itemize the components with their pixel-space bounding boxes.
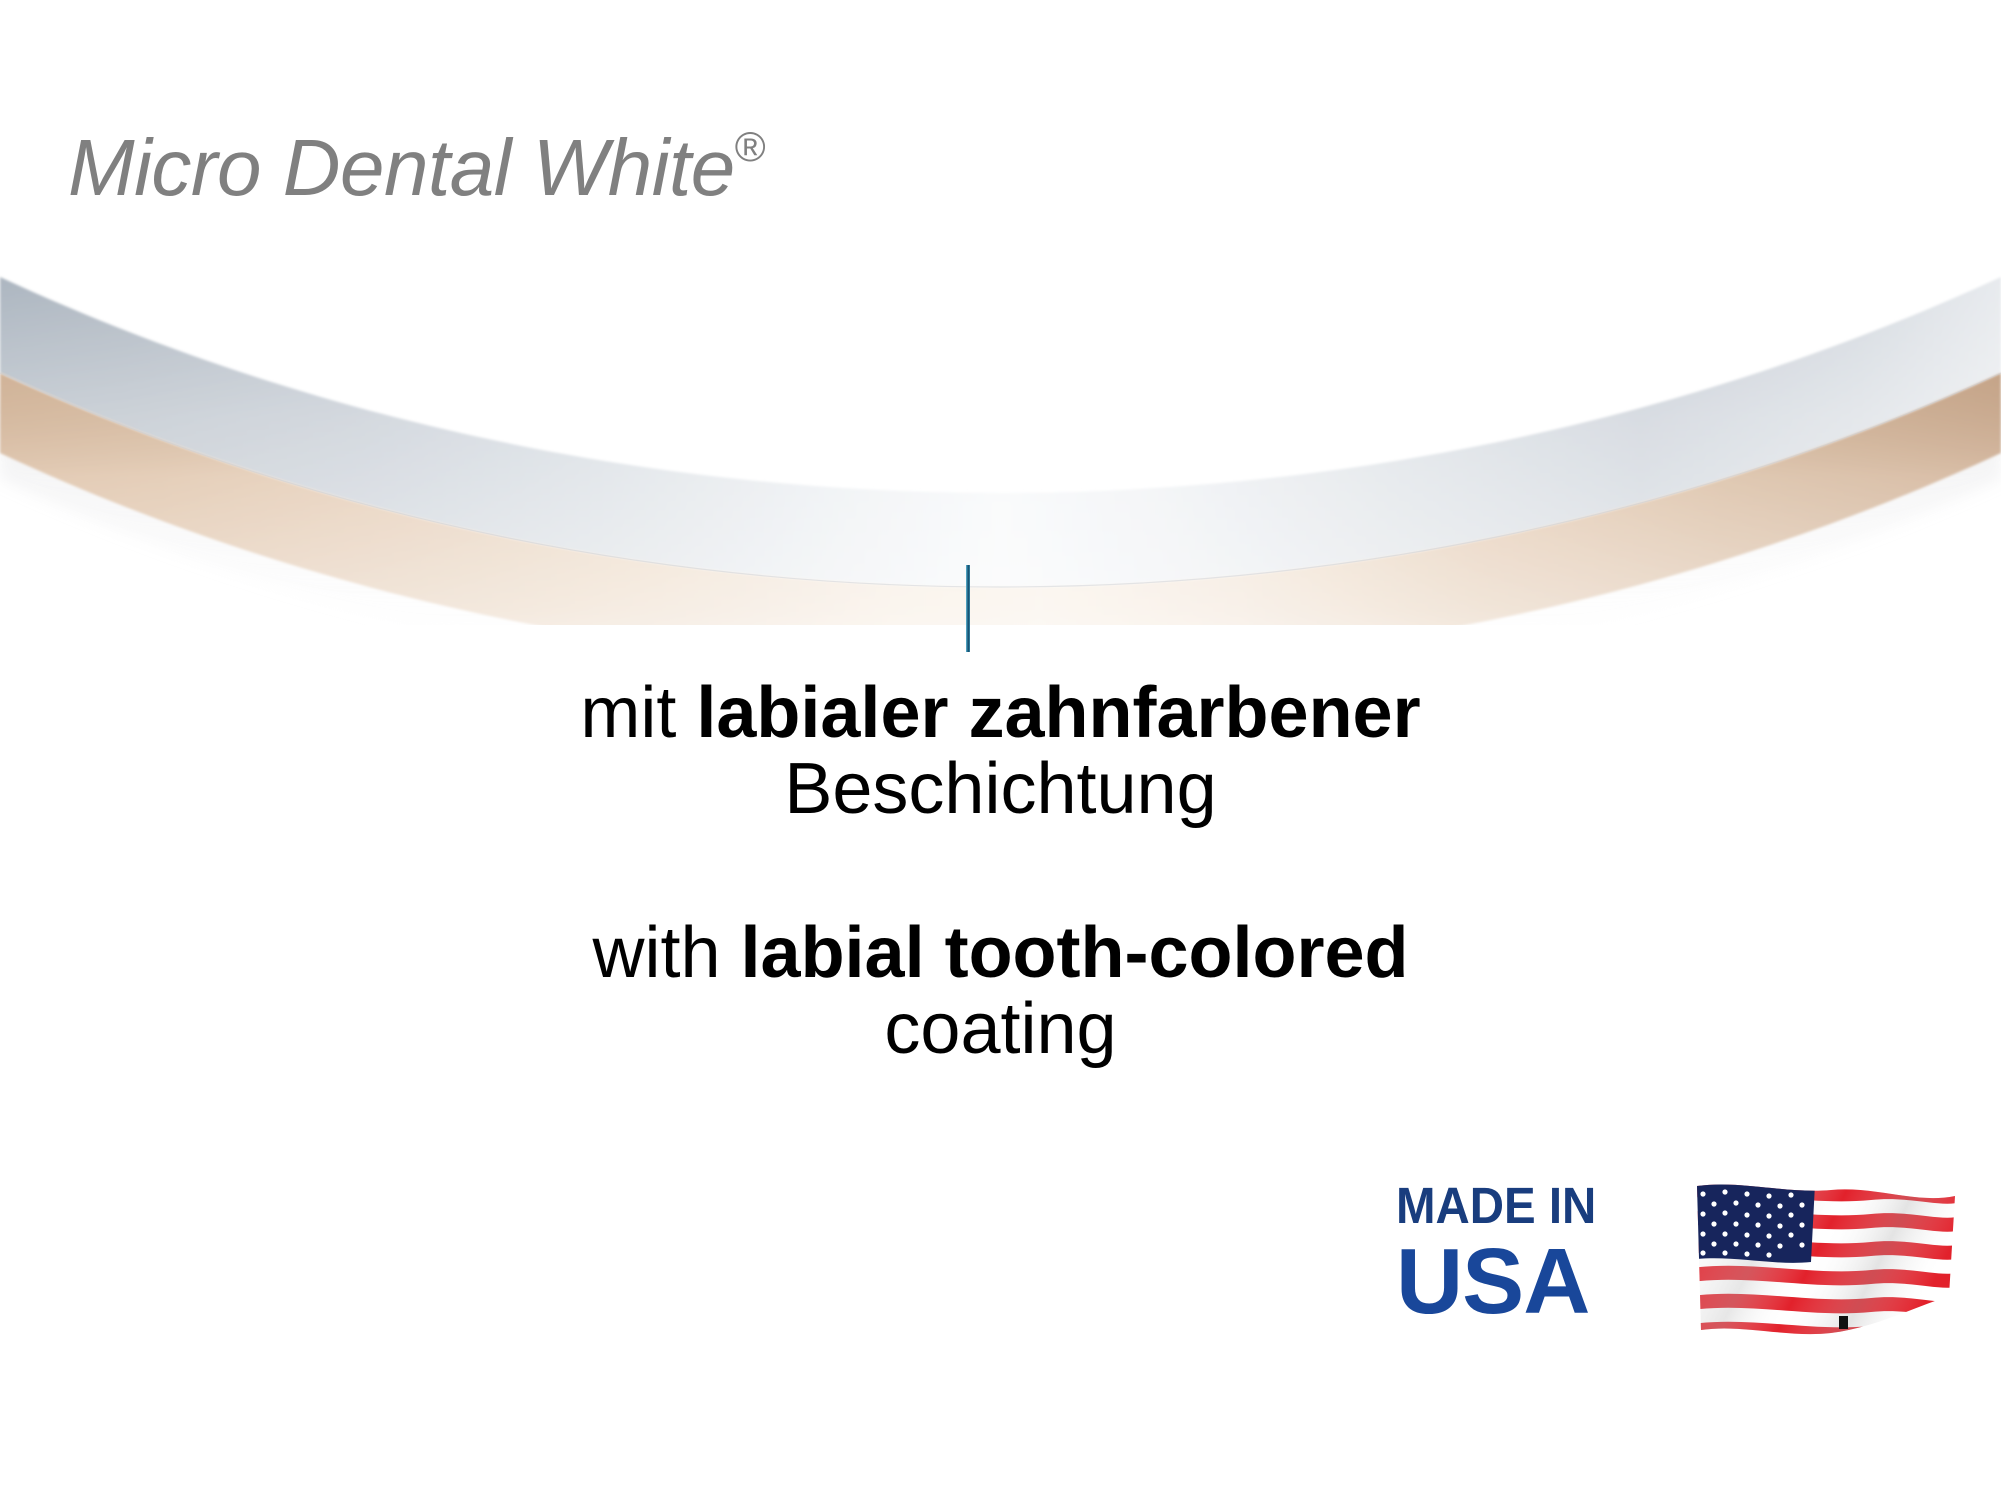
- usa-flag-body: [1691, 1178, 1961, 1343]
- page-title: Micro Dental White®: [68, 128, 765, 208]
- made-in-label: MADE IN: [1396, 1180, 1675, 1231]
- caption-english-line2: coating: [0, 991, 2001, 1067]
- caption-german-line1: mit labialer zahnfarbener: [0, 675, 2001, 751]
- registered-trademark-icon: ®: [735, 123, 765, 170]
- product-slide: Micro Dental White®: [0, 0, 2001, 1493]
- caption-english-line1-bold: labial tooth-colored: [741, 913, 1409, 993]
- caption-english: with labial tooth-colored coating: [0, 915, 2001, 1068]
- archwire-illustration: [0, 225, 2001, 625]
- made-in-usa-badge: MADE IN USA: [1396, 1180, 1966, 1355]
- coating-pointer-line: [966, 565, 970, 652]
- caption-english-line1-regular: with: [592, 913, 740, 993]
- usa-label: USA: [1396, 1237, 1696, 1325]
- made-in-usa-text: MADE IN USA: [1396, 1180, 1696, 1325]
- usa-flag-icon: [1691, 1178, 1961, 1343]
- caption-german-line1-bold: labialer zahnfarbener: [696, 673, 1420, 753]
- caption-german-line2: Beschichtung: [0, 751, 2001, 827]
- usa-flag-pole-nub: [1839, 1316, 1848, 1329]
- caption-english-line1: with labial tooth-colored: [0, 915, 2001, 991]
- caption-german: mit labialer zahnfarbener Beschichtung: [0, 675, 2001, 828]
- page-title-text: Micro Dental White: [68, 123, 735, 212]
- caption-german-line1-regular: mit: [580, 673, 696, 753]
